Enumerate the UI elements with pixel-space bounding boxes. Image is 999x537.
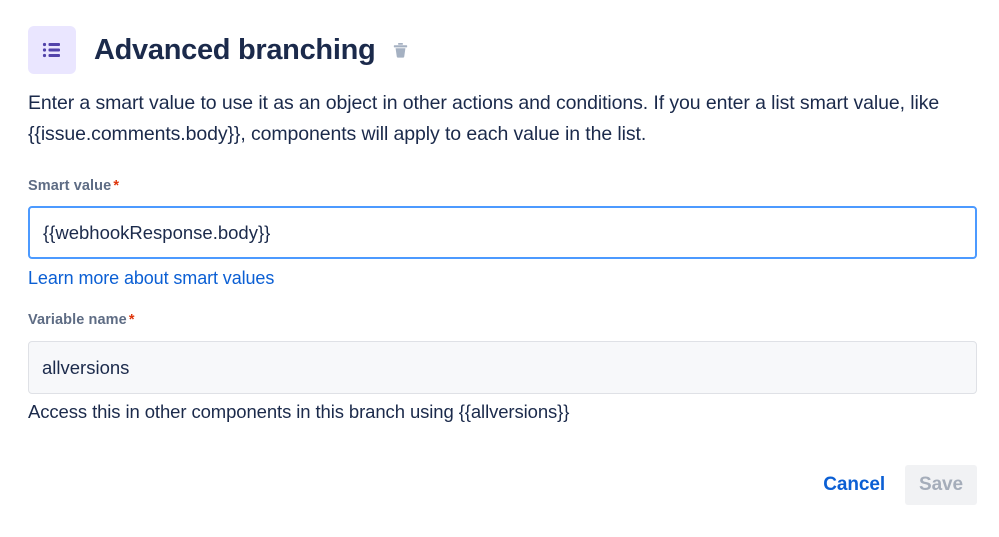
variable-name-helper-text: Access this in other components in this … [28, 401, 569, 423]
required-marker: * [113, 178, 119, 194]
variable-name-label-text: Variable name [28, 312, 127, 328]
variable-name-input[interactable] [28, 341, 977, 394]
smart-value-input[interactable] [28, 206, 977, 259]
panel-footer: Cancel Save [809, 465, 977, 505]
trash-icon[interactable] [389, 39, 411, 61]
required-marker: * [129, 312, 135, 328]
learn-more-link[interactable]: Learn more about smart values [28, 268, 274, 289]
page-title: Advanced branching [94, 36, 375, 65]
panel-header: Advanced branching [28, 26, 411, 74]
smart-value-label: Smart value* [28, 178, 119, 194]
panel-description: Enter a smart value to use it as an obje… [28, 88, 968, 150]
save-button[interactable]: Save [905, 465, 977, 505]
advanced-branching-panel: Advanced branching Enter a smart value t… [0, 0, 999, 537]
cancel-button[interactable]: Cancel [809, 465, 899, 505]
list-icon [28, 26, 76, 74]
variable-name-label: Variable name* [28, 312, 135, 328]
smart-value-label-text: Smart value [28, 178, 111, 194]
